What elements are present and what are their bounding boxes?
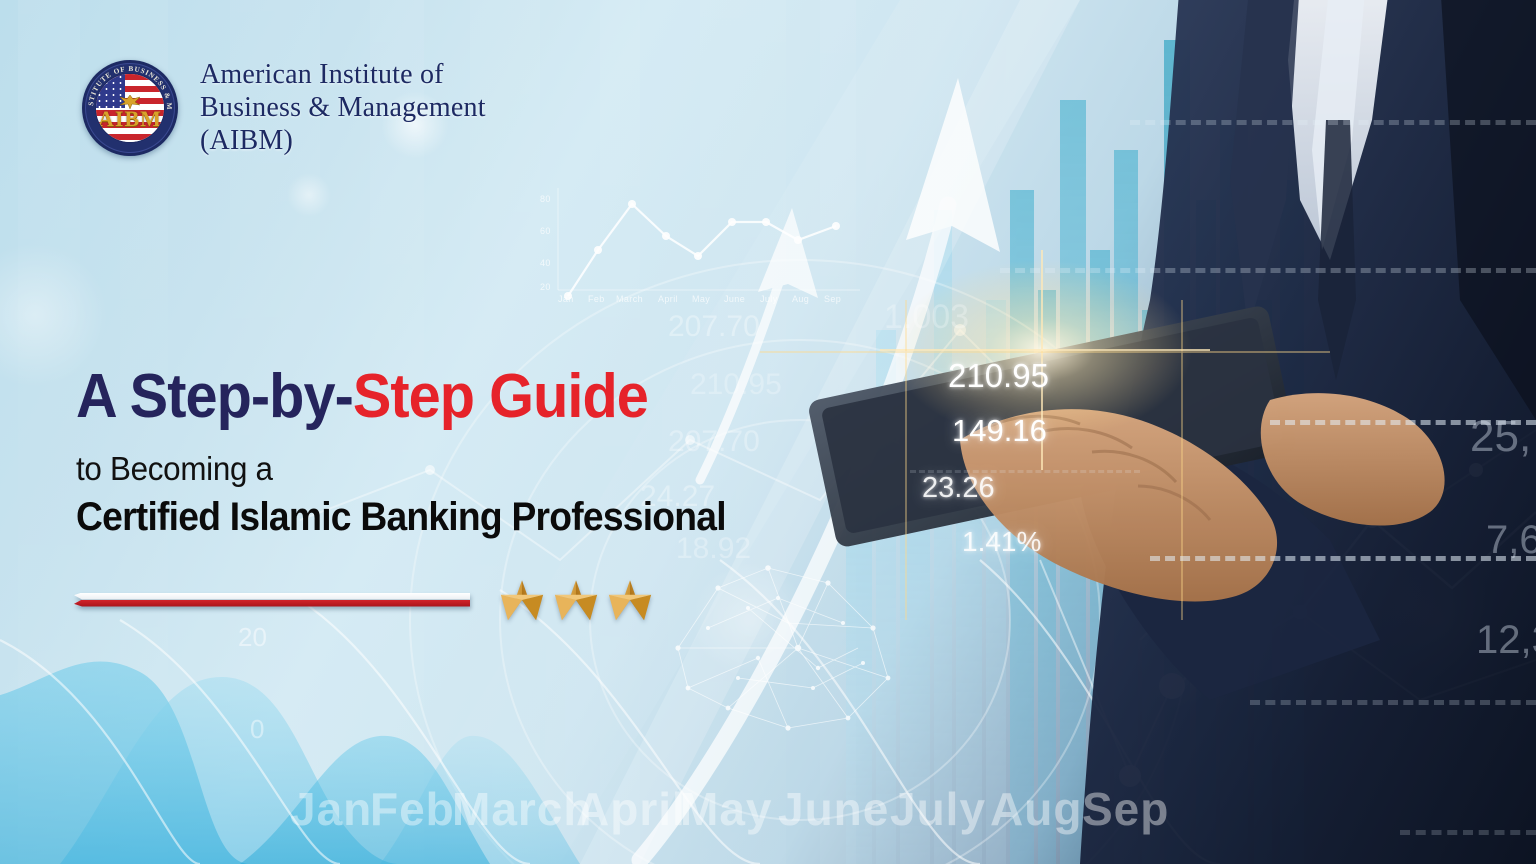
background-line-chart: 80 60 40 20 Jan Feb March April May June…	[540, 178, 870, 308]
org-name: American Institute of Business & Managem…	[200, 58, 486, 157]
mini-chart-xtick: Sep	[824, 294, 841, 304]
bottom-month-label: Sep	[1082, 782, 1169, 836]
dashed-grid-line	[1130, 120, 1536, 125]
dashed-grid-line	[1400, 830, 1536, 835]
headline-part-red: Step Guide	[353, 362, 648, 431]
mini-chart-xtick: June	[724, 294, 745, 304]
brand-logo[interactable]: AMERICAN INSTITUTE OF BUSINESS & MANAGEM…	[82, 58, 486, 157]
mini-chart-xtick: July	[760, 294, 778, 304]
seal-aibm-text: AIBM	[96, 106, 164, 132]
page-title: A Step-by-Step Guide	[76, 366, 913, 428]
mini-chart-xtick: Jan	[558, 294, 574, 304]
dashed-grid-line	[1150, 556, 1536, 561]
star-icon	[500, 578, 544, 622]
headline-credential: Certified Islamic Banking Professional	[76, 495, 913, 540]
mini-chart-xtick: March	[616, 294, 643, 304]
org-name-line3: (AIBM)	[200, 124, 486, 157]
ghost-data-number: 1.003	[884, 298, 969, 337]
bottom-month-label: June	[778, 782, 889, 836]
mini-chart-ytick: 40	[540, 258, 551, 268]
mini-chart-xtick: May	[692, 294, 710, 304]
promo-banner: 80 60 40 20 Jan Feb March April May June…	[0, 0, 1536, 864]
decorative-rule	[74, 592, 470, 609]
rule-red-stripe	[74, 600, 470, 607]
edge-data-number: 7,6	[1486, 518, 1536, 563]
bottom-month-label: Feb	[370, 782, 455, 836]
ghost-data-number: 207.70	[668, 310, 760, 344]
edge-data-number: 12,3	[1476, 618, 1536, 663]
bottom-month-label: July	[890, 782, 986, 836]
star-icon	[554, 578, 598, 622]
bottom-month-label: Jan	[290, 782, 372, 836]
bottom-month-label: April	[576, 782, 686, 836]
aibm-seal-icon: AMERICAN INSTITUTE OF BUSINESS & MANAGEM…	[82, 60, 178, 156]
dashed-grid-line	[1270, 420, 1536, 425]
edge-data-number: 25,	[1470, 412, 1531, 462]
mini-chart-ytick: 80	[540, 194, 551, 204]
bottom-month-label: Aug	[990, 782, 1082, 836]
rule-white-stripe	[74, 593, 470, 600]
wave-ytick: 20	[238, 622, 267, 653]
headline-subtitle: to Becoming a	[76, 450, 931, 488]
mini-chart-ytick: 60	[540, 226, 551, 236]
dashed-grid-line	[1250, 700, 1536, 705]
bottom-month-label: March	[452, 782, 592, 836]
bottom-month-label: May	[680, 782, 772, 836]
mini-chart-xtick: Feb	[588, 294, 605, 304]
dashed-grid-line	[1000, 268, 1536, 273]
headline-part-navy: A Step-by-	[76, 362, 353, 431]
rating-stars	[500, 578, 652, 622]
mini-chart-xtick: April	[658, 294, 678, 304]
network-globe-icon	[648, 528, 928, 758]
star-icon	[608, 578, 652, 622]
org-name-line1: American Institute of	[200, 58, 486, 91]
headline-block: A Step-by-Step Guide to Becoming a Certi…	[76, 366, 976, 540]
org-name-line2: Business & Management	[200, 91, 486, 124]
decorative-rule-row	[74, 578, 652, 622]
wave-ytick: 0	[250, 714, 264, 745]
mini-chart-ytick: 20	[540, 282, 551, 292]
mini-chart-xtick: Aug	[792, 294, 809, 304]
